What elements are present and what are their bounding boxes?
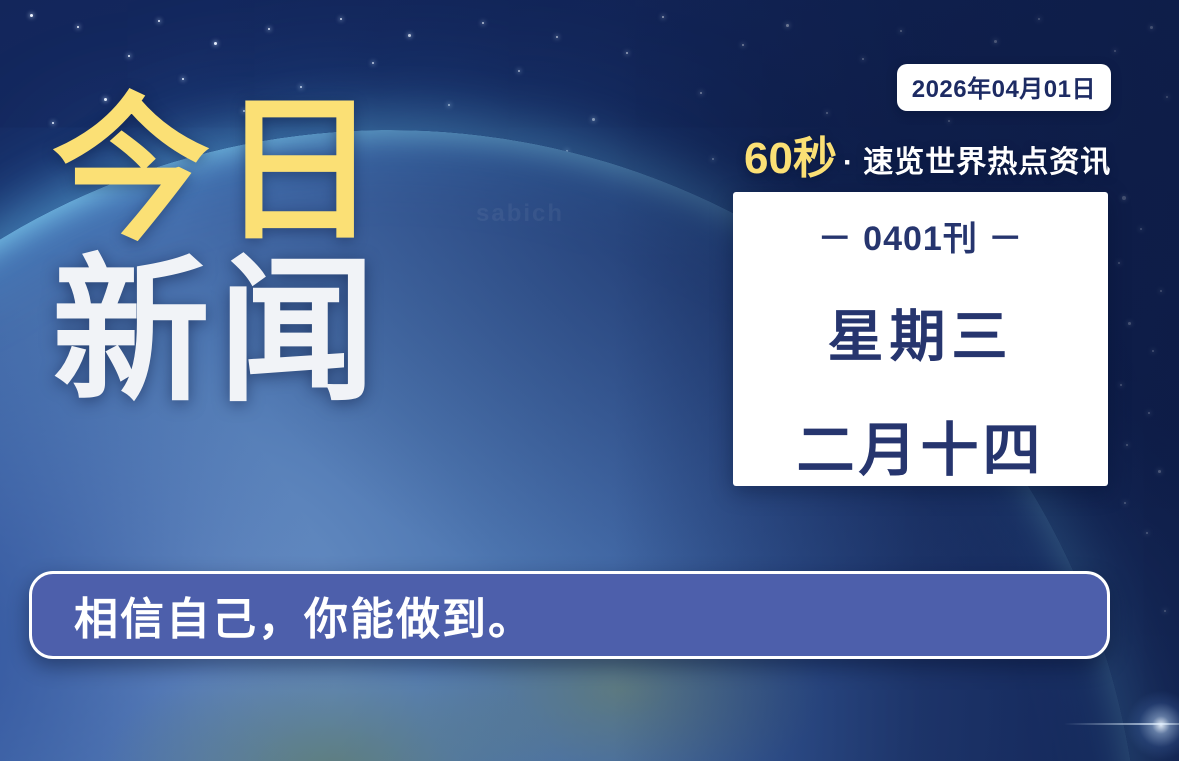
issue-number: － 0401刊 － [818,211,1024,260]
weekday-label: 星期三 [828,292,1014,373]
background-watermark: sabich [476,200,564,228]
title-line-today: 今日 [52,96,388,246]
date-badge: 2026年04月01日 [897,64,1111,111]
tagline: 60秒 · 速览世界热点资讯 [744,137,1111,181]
tagline-subtitle: · 速览世界热点资讯 [843,148,1111,181]
poster-title: 今日 新闻 [52,96,388,413]
lunar-date-label: 二月十四 [796,403,1044,487]
tagline-seconds: 60秒 [744,137,837,181]
issue-card: － 0401刊 － 星期三 二月十四 [733,192,1108,486]
quote-banner: 相信自己，你能做到。 [29,571,1110,659]
quote-text: 相信自己，你能做到。 [74,583,534,647]
news-poster: sabich 2026年04月01日 今日 新闻 60秒 · 速览世界热点资讯 … [0,0,1179,761]
title-line-news: 新闻 [52,252,388,413]
